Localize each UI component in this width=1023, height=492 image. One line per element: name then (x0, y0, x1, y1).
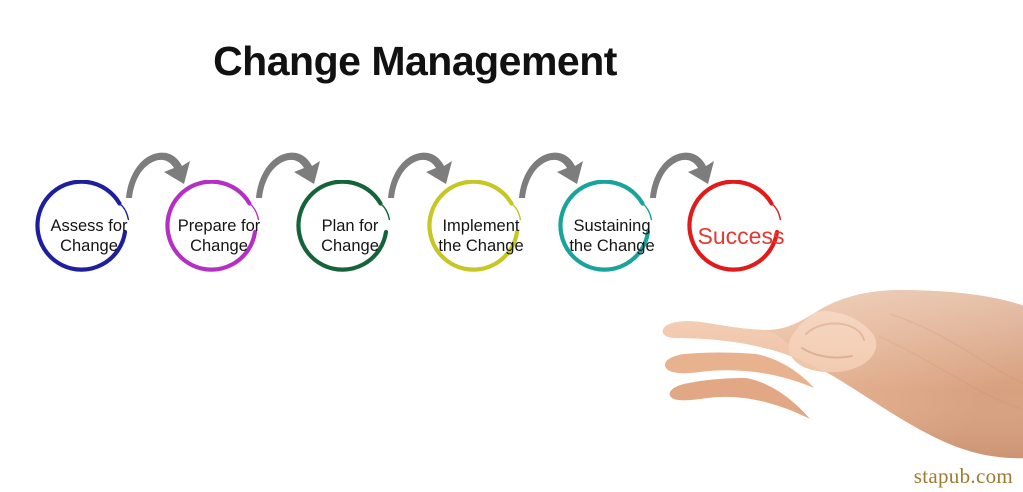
stage-sustaining-the-change[interactable]: Sustaining the Change (556, 180, 668, 292)
diagram-canvas: Change Management (0, 0, 1023, 492)
stage-3-circle-icon (294, 180, 406, 292)
stage-4-circle-icon (425, 180, 537, 292)
stage-2-circle-icon (163, 180, 275, 292)
stage-6-circle-icon (685, 180, 797, 292)
stage-plan-for-change[interactable]: Plan for Change (294, 180, 406, 292)
stage-implement-the-change[interactable]: Implement the Change (425, 180, 537, 292)
watermark: stapub.com (914, 464, 1013, 489)
stage-1-circle-icon (33, 180, 145, 292)
open-hand-illustration (560, 278, 1023, 492)
page-title: Change Management (0, 38, 830, 85)
stage-assess-for-change[interactable]: Assess for Change (33, 180, 145, 292)
stage-5-circle-icon (556, 180, 668, 292)
stage-prepare-for-change[interactable]: Prepare for Change (163, 180, 275, 292)
stage-success[interactable]: Success (685, 180, 797, 292)
